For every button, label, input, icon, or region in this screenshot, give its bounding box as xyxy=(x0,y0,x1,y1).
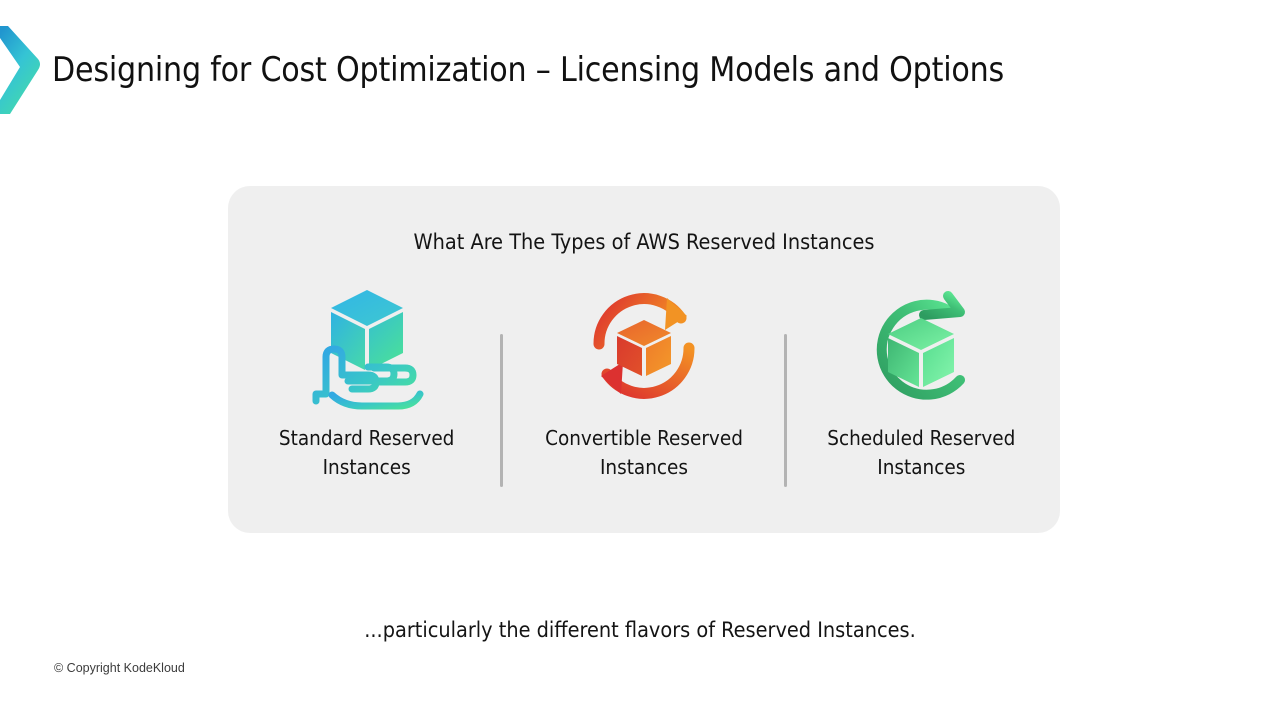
instance-type-label: Standard Reserved Instances xyxy=(252,424,482,482)
slide-caption: ...particularly the different flavors of… xyxy=(0,618,1280,643)
instance-type-label: Convertible Reserved Instances xyxy=(529,424,759,482)
cube-on-hand-icon xyxy=(302,282,432,410)
page-title: Designing for Cost Optimization – Licens… xyxy=(52,50,1004,89)
instance-types-columns: Standard Reserved Instances xyxy=(228,282,1060,512)
card-heading: What Are The Types of AWS Reserved Insta… xyxy=(228,230,1060,255)
kodekloud-chevron-logo-icon xyxy=(0,26,42,114)
instance-type-convertible[interactable]: Convertible Reserved Instances xyxy=(505,282,782,512)
cube-with-two-circular-arrows-icon xyxy=(579,282,709,410)
instance-type-standard[interactable]: Standard Reserved Instances xyxy=(228,282,505,512)
slide-header: Designing for Cost Optimization – Licens… xyxy=(0,0,1280,130)
instance-type-scheduled[interactable]: Scheduled Reserved Instances xyxy=(783,282,1060,512)
reserved-instances-card: What Are The Types of AWS Reserved Insta… xyxy=(228,186,1060,533)
instance-type-label: Scheduled Reserved Instances xyxy=(806,424,1036,482)
cube-with-circular-arrow-icon xyxy=(856,282,986,410)
column-divider xyxy=(500,334,503,487)
column-divider xyxy=(784,334,787,487)
copyright-notice: © Copyright KodeKloud xyxy=(54,661,185,675)
